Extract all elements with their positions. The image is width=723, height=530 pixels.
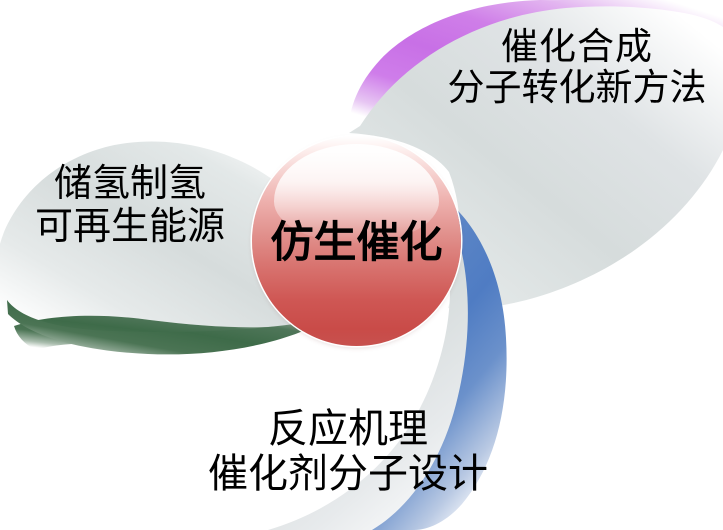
branch-label-line: 催化剂分子设计 [198,452,498,497]
center-sphere: 仿生催化 [252,136,461,346]
branch-label-line: 反应机理 [198,407,498,452]
branch-label-hydrogen-energy: 储氢制氢 可再生能源 [16,162,244,247]
branch-label-reaction-mechanism: 反应机理 催化剂分子设计 [198,407,498,497]
center-sphere-label: 仿生催化 [252,222,461,265]
branch-label-line: 储氢制氢 [16,162,244,205]
diagram-canvas: 仿生催化 催化合成 分子转化新方法 储氢制氢 可再生能源 反应机理 催化剂分子设… [0,0,723,530]
branch-label-catalytic-synthesis: 催化合成 分子转化新方法 [431,26,723,109]
branch-label-line: 可再生能源 [16,205,244,248]
branch-label-line: 分子转化新方法 [431,67,723,108]
branch-label-line: 催化合成 [431,26,723,67]
